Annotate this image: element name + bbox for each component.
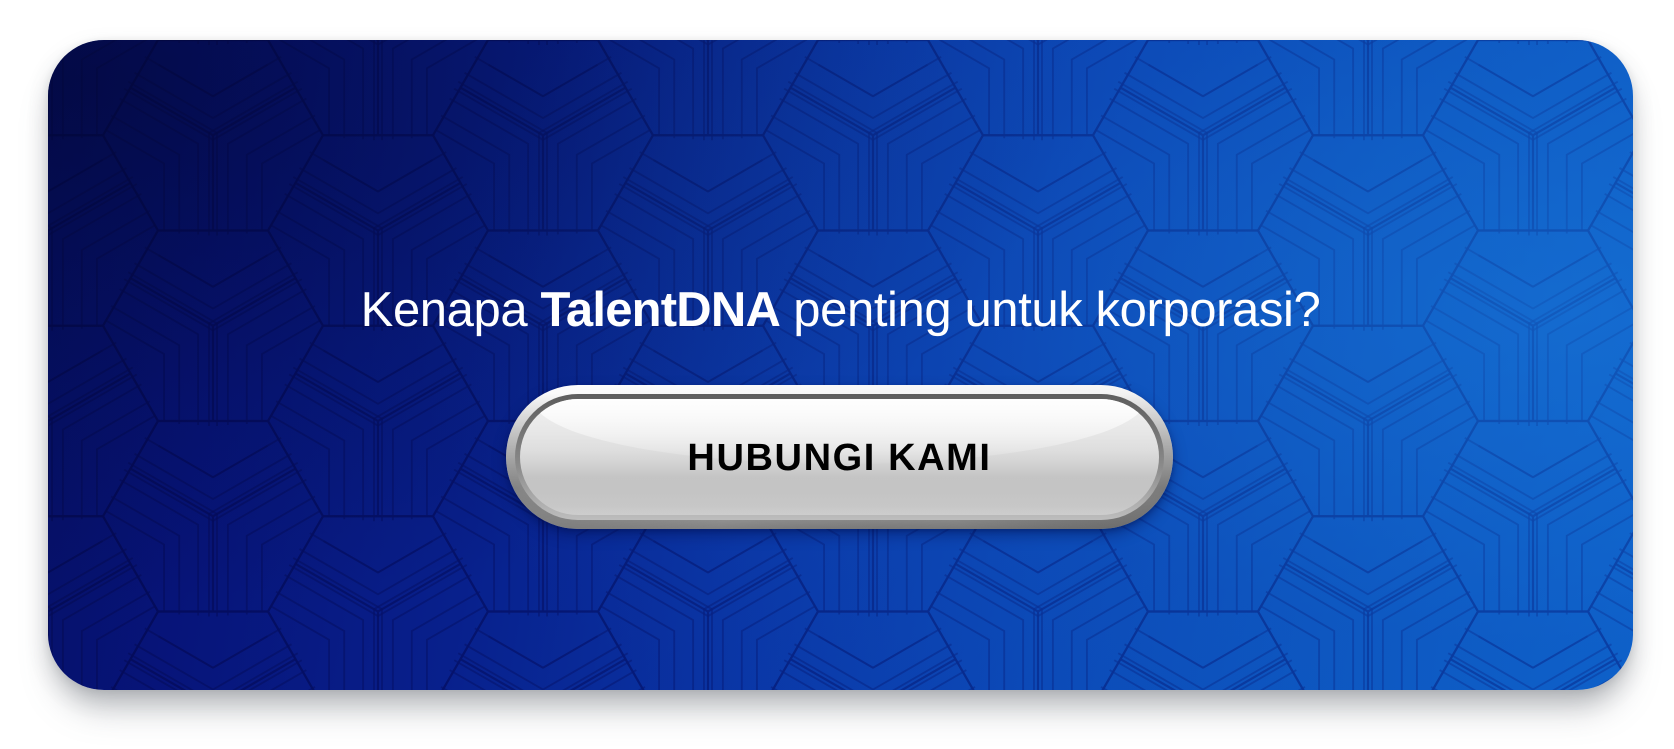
card-sheen-overlay bbox=[48, 40, 1633, 690]
cta-banner-card: Kenapa TalentDNA penting untuk korporasi… bbox=[48, 40, 1633, 690]
hexagon-cube-pattern-overlay bbox=[48, 40, 1633, 690]
cta-heading-suffix: penting untuk korporasi? bbox=[780, 283, 1320, 337]
hexagon-pattern-svg bbox=[48, 40, 1633, 690]
cta-heading-brand: TalentDNA bbox=[540, 283, 780, 337]
contact-us-button[interactable]: HUBUNGI KAMI bbox=[506, 385, 1173, 529]
screenshot-canvas: Kenapa TalentDNA penting untuk korporasi… bbox=[0, 0, 1674, 749]
cta-heading-prefix: Kenapa bbox=[361, 283, 541, 337]
cta-heading: Kenapa TalentDNA penting untuk korporasi… bbox=[48, 282, 1633, 340]
contact-us-button-label: HUBUNGI KAMI bbox=[506, 385, 1173, 529]
